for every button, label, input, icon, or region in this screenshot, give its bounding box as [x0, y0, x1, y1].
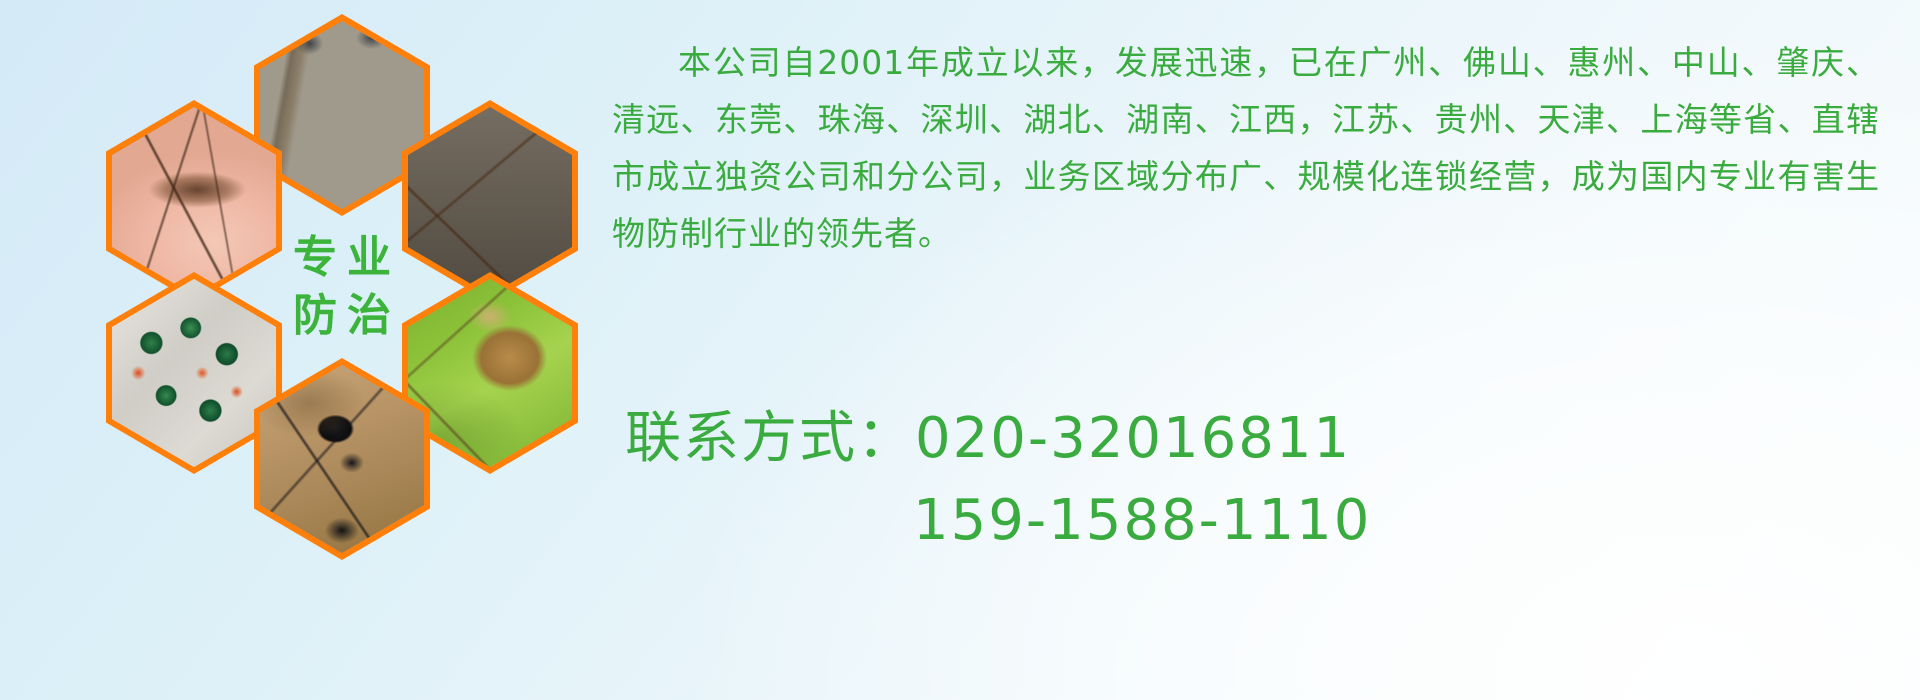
hex-photo-mosquito-frame	[112, 107, 276, 295]
company-intro-block: 本公司自2001年成立以来，发展迅速，已在广州、佛山、惠州、中山、肇庆、清远、东…	[612, 34, 1892, 262]
hex-photo-cockroach-frame	[408, 107, 572, 295]
rat-icon	[260, 21, 424, 209]
hex-photo-ant-frame	[260, 365, 424, 553]
fly-icon	[112, 279, 276, 467]
hexagon-photo-cluster: 专业 防治	[92, 4, 592, 584]
mosquito-icon	[112, 107, 276, 295]
contact-line-primary[interactable]: 联系方式：020-32016811	[625, 398, 1885, 480]
hex-photo-rodents-frame	[260, 21, 424, 209]
hex-label-line-2: 防治	[283, 294, 401, 338]
bug-icon	[408, 279, 572, 467]
cockroach-icon	[408, 107, 572, 295]
hex-photo-stinkbug-frame	[408, 279, 572, 467]
contact-line-secondary[interactable]: 159-1588-1110	[625, 480, 1885, 562]
hex-label-line-1: 专业	[283, 236, 401, 280]
contact-block: 联系方式：020-32016811 159-1588-1110	[625, 398, 1885, 562]
ant-icon	[260, 365, 424, 553]
hex-center-label-frame: 专业 防治	[260, 193, 424, 381]
hex-photo-flies-frame	[112, 279, 276, 467]
promo-banner: 专业 防治 本公司自2001年成立以来，发展迅速，已在广州、佛山、惠州、中山、肇…	[0, 0, 1920, 700]
company-intro-paragraph: 本公司自2001年成立以来，发展迅速，已在广州、佛山、惠州、中山、肇庆、清远、东…	[612, 34, 1880, 262]
